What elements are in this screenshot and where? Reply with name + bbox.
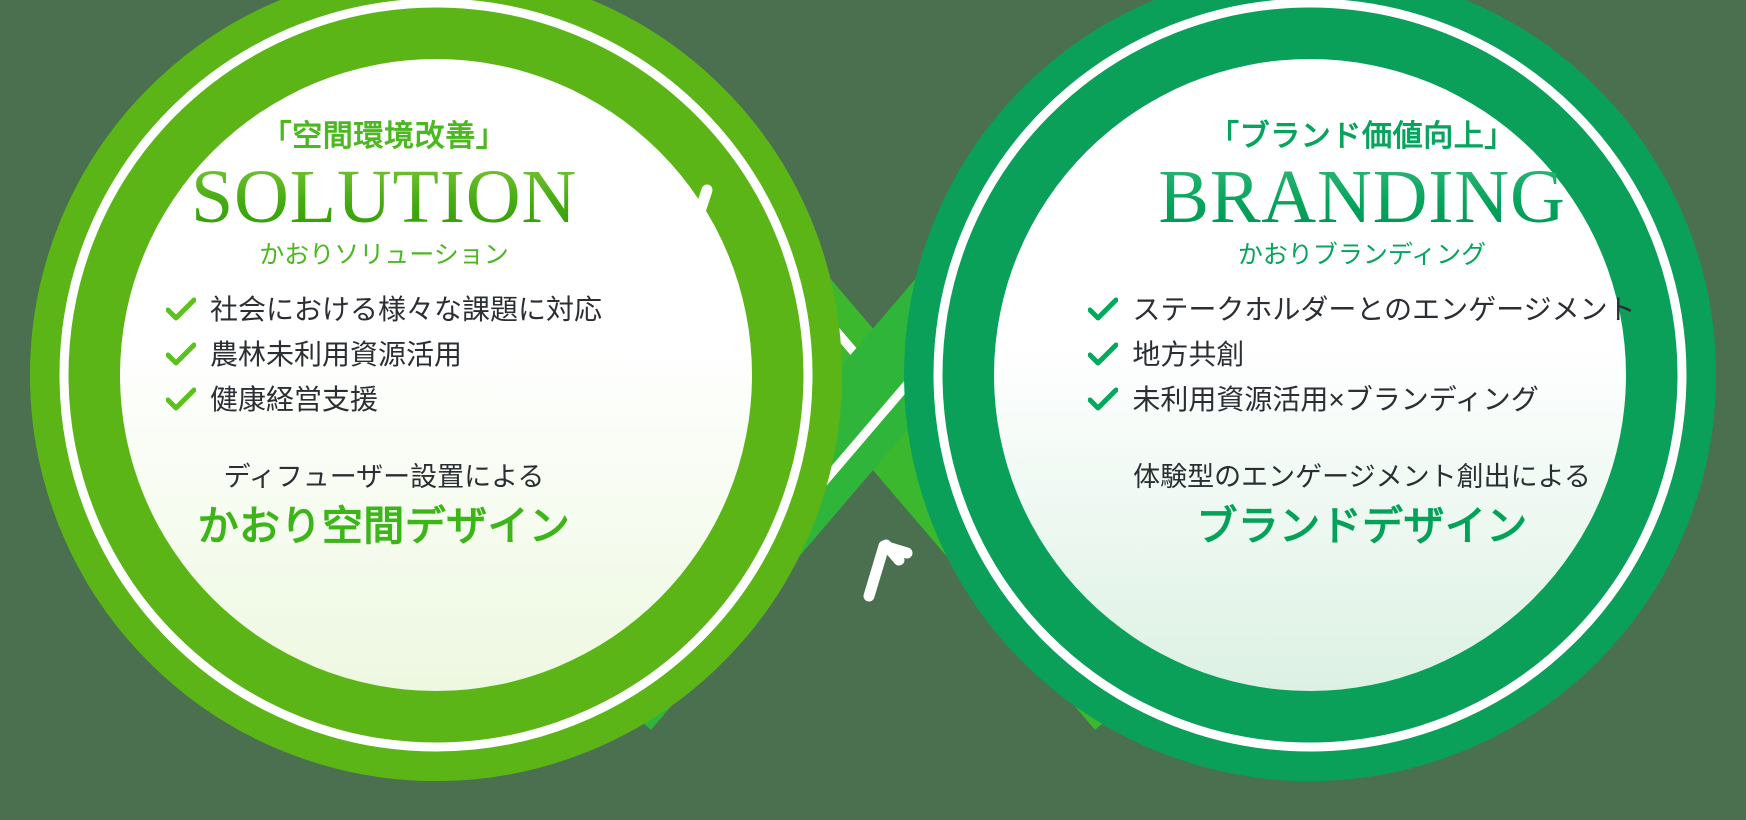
list-item-label: 地方共創	[1132, 341, 1244, 369]
list-item: 社会における様々な課題に対応	[166, 296, 602, 324]
solution-kicker: 「空間環境改善」	[104, 120, 664, 153]
list-item: 未利用資源活用×ブランディング	[1088, 386, 1635, 414]
check-icon	[166, 297, 196, 323]
branding-kicker: 「ブランド価値向上」	[1082, 120, 1642, 153]
check-icon	[1088, 342, 1118, 368]
check-icon	[1088, 297, 1118, 323]
list-item-label: 農林未利用資源活用	[210, 341, 462, 369]
branding-tagline: 体験型のエンゲージメント創出による	[1082, 461, 1642, 493]
solution-panel: 「空間環境改善」 SOLUTION かおりソリューション 社会における様々な課題…	[104, 120, 664, 551]
list-item: ステークホルダーとのエンゲージメント	[1088, 296, 1635, 324]
list-item: 健康経営支援	[166, 386, 602, 414]
list-item-label: ステークホルダーとのエンゲージメント	[1132, 296, 1635, 324]
solution-tagline: ディフューザー設置による	[104, 461, 664, 493]
branding-bigline: ブランドデザイン	[1082, 502, 1642, 551]
list-item-label: 社会における様々な課題に対応	[210, 296, 602, 324]
list-item-label: 未利用資源活用×ブランディング	[1132, 386, 1538, 414]
list-item: 農林未利用資源活用	[166, 341, 602, 369]
branding-panel: 「ブランド価値向上」 BRANDING かおりブランディング ステークホルダーと…	[1082, 120, 1642, 551]
check-icon	[166, 342, 196, 368]
branding-subtitle: かおりブランディング	[1082, 240, 1642, 270]
solution-bigline: かおり空間デザイン	[104, 502, 664, 551]
branding-bullet-list: ステークホルダーとのエンゲージメント 地方共創 未利用資源活用×ブランディング	[1088, 296, 1635, 431]
check-icon	[166, 387, 196, 413]
list-item-label: 健康経営支援	[210, 386, 378, 414]
arrow-up-left-icon	[869, 545, 907, 596]
infographic-canvas: 「空間環境改善」 SOLUTION かおりソリューション 社会における様々な課題…	[0, 0, 1746, 820]
branding-title: BRANDING	[1082, 157, 1642, 238]
check-icon	[1088, 387, 1118, 413]
list-item: 地方共創	[1088, 341, 1635, 369]
solution-bullet-list: 社会における様々な課題に対応 農林未利用資源活用 健康経営支援	[166, 296, 602, 431]
solution-subtitle: かおりソリューション	[104, 240, 664, 270]
solution-title: SOLUTION	[104, 157, 664, 238]
